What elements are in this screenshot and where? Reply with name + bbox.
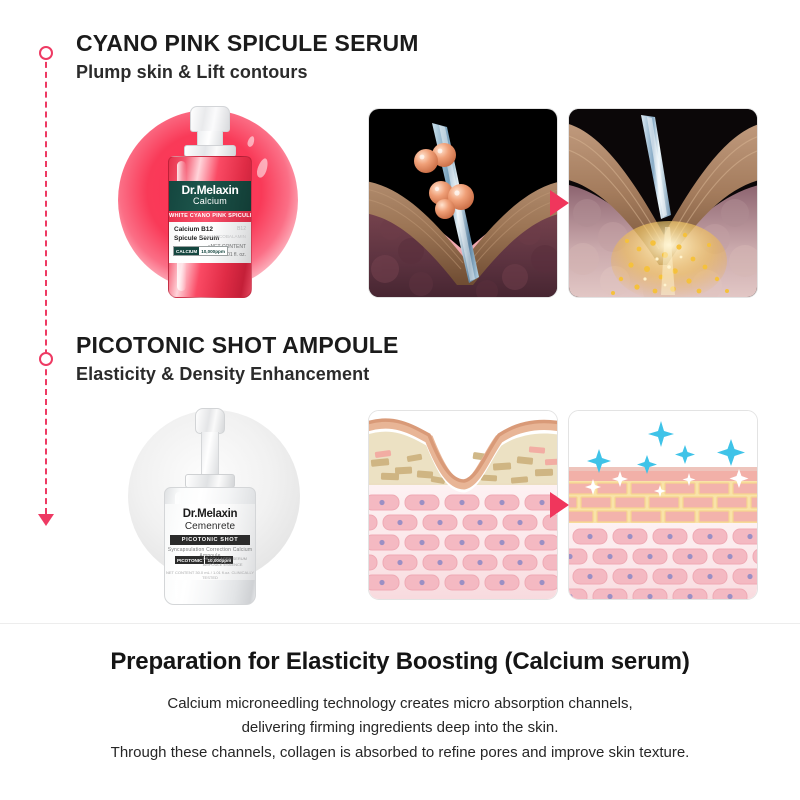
panel-wrinkled-skin-layers	[368, 410, 558, 600]
label-brand-name: Dr.Melaxin	[169, 183, 251, 197]
footer-line-1: Calcium microneedling technology creates…	[0, 692, 800, 716]
dropper-bulb	[195, 408, 225, 434]
bottle-body: Dr.Melaxin Calcium WHITE CYANO PINK SPIC…	[168, 156, 252, 298]
footer-line-2: delivering firming ingredients deep into…	[0, 716, 800, 740]
label-side-note-2: AMPOULE ESSENCE	[203, 562, 247, 568]
label-product-line: Calcium	[169, 196, 251, 206]
section-1-subtitle: Plump skin & Lift contours	[76, 62, 419, 83]
panel-firmed-skin-layers	[568, 410, 758, 600]
absorption-illustration-graphic	[569, 109, 758, 298]
bottle-collar	[185, 474, 235, 488]
footer-line-3: Through these channels, collagen is abso…	[0, 741, 800, 765]
product-image-cyano-pink-serum: Dr.Melaxin Calcium WHITE CYANO PINK SPIC…	[110, 102, 310, 317]
label-product-line: Cemenrete	[165, 521, 255, 532]
section-2-headings: PICOTONIC SHOT AMPOULE Elasticity & Dens…	[76, 332, 399, 385]
footer-title: Preparation for Elasticity Boosting (Cal…	[0, 648, 800, 676]
section-2-subtitle: Elasticity & Density Enhancement	[76, 364, 399, 385]
section-2-title: PICOTONIC SHOT AMPOULE	[76, 332, 399, 358]
footer-block: Preparation for Elasticity Boosting (Cal…	[0, 648, 800, 765]
bottle-label: Dr.Melaxin Calcium WHITE CYANO PINK SPIC…	[169, 181, 251, 263]
bottle-label: Dr.Melaxin Cemenrete PICOTONIC SHOT Sync…	[165, 504, 255, 580]
section-2-transition-arrow-icon	[550, 492, 569, 518]
panel-ingredient-absorption	[568, 108, 758, 298]
timeline-dashed-line	[45, 52, 47, 514]
label-side-note: DR.COLLAGEN SERUM AMPOULE ESSENCE	[203, 556, 247, 568]
label-brand-name: Dr.Melaxin	[165, 508, 255, 520]
microneedle-illustration-graphic	[369, 109, 558, 298]
chip-ingredient-name: PICOTONIC	[175, 556, 204, 564]
product-image-picotonic-ampoule: Dr.Melaxin Cemenrete PICOTONIC SHOT Sync…	[110, 404, 310, 619]
label-ingredient-chip: CALCIUM 10,000ppm	[173, 246, 228, 256]
label-pink-band: WHITE CYANO PINK SPICULE	[169, 211, 251, 222]
footer-divider	[0, 623, 800, 624]
panel-microneedle-penetration	[368, 108, 558, 298]
section-1-title: CYANO PINK SPICULE SERUM	[76, 30, 419, 56]
bottle-body: Dr.Melaxin Cemenrete PICOTONIC SHOT Sync…	[164, 487, 256, 605]
timeline-marker-step-1-icon	[39, 46, 53, 60]
firmed-skin-illustration-graphic	[569, 411, 758, 600]
pump-head	[190, 106, 230, 132]
dropper-stem	[201, 432, 219, 476]
infographic-page: CYANO PINK SPICULE SERUM Plump skin & Li…	[0, 0, 800, 800]
timeline-arrow-down-icon	[38, 514, 54, 526]
label-text-right-1: B12	[237, 226, 246, 232]
chip-ingredient-amount: 10,000ppm	[199, 247, 227, 255]
label-text-left-1: Calcium B12	[174, 226, 213, 233]
label-text-right-2: SCHAMOCOBALAMIN	[199, 234, 246, 239]
serum-bottle: Dr.Melaxin Calcium WHITE CYANO PINK SPIC…	[162, 106, 258, 302]
ampoule-bottle: Dr.Melaxin Cemenrete PICOTONIC SHOT Sync…	[157, 408, 263, 608]
section-1-headings: CYANO PINK SPICULE SERUM Plump skin & Li…	[76, 30, 419, 83]
timeline-marker-step-2-icon	[39, 352, 53, 366]
wrinkled-skin-illustration-graphic	[369, 411, 558, 600]
label-footnote: NET CONTENT 30.0 mL / 1.01 fl.oz. CLINIC…	[165, 570, 255, 580]
label-dark-band: PICOTONIC SHOT	[170, 535, 250, 545]
chip-ingredient-name: CALCIUM	[174, 247, 199, 255]
section-1-transition-arrow-icon	[550, 190, 569, 216]
timeline	[34, 46, 58, 536]
footer-description: Calcium microneedling technology creates…	[0, 692, 800, 765]
